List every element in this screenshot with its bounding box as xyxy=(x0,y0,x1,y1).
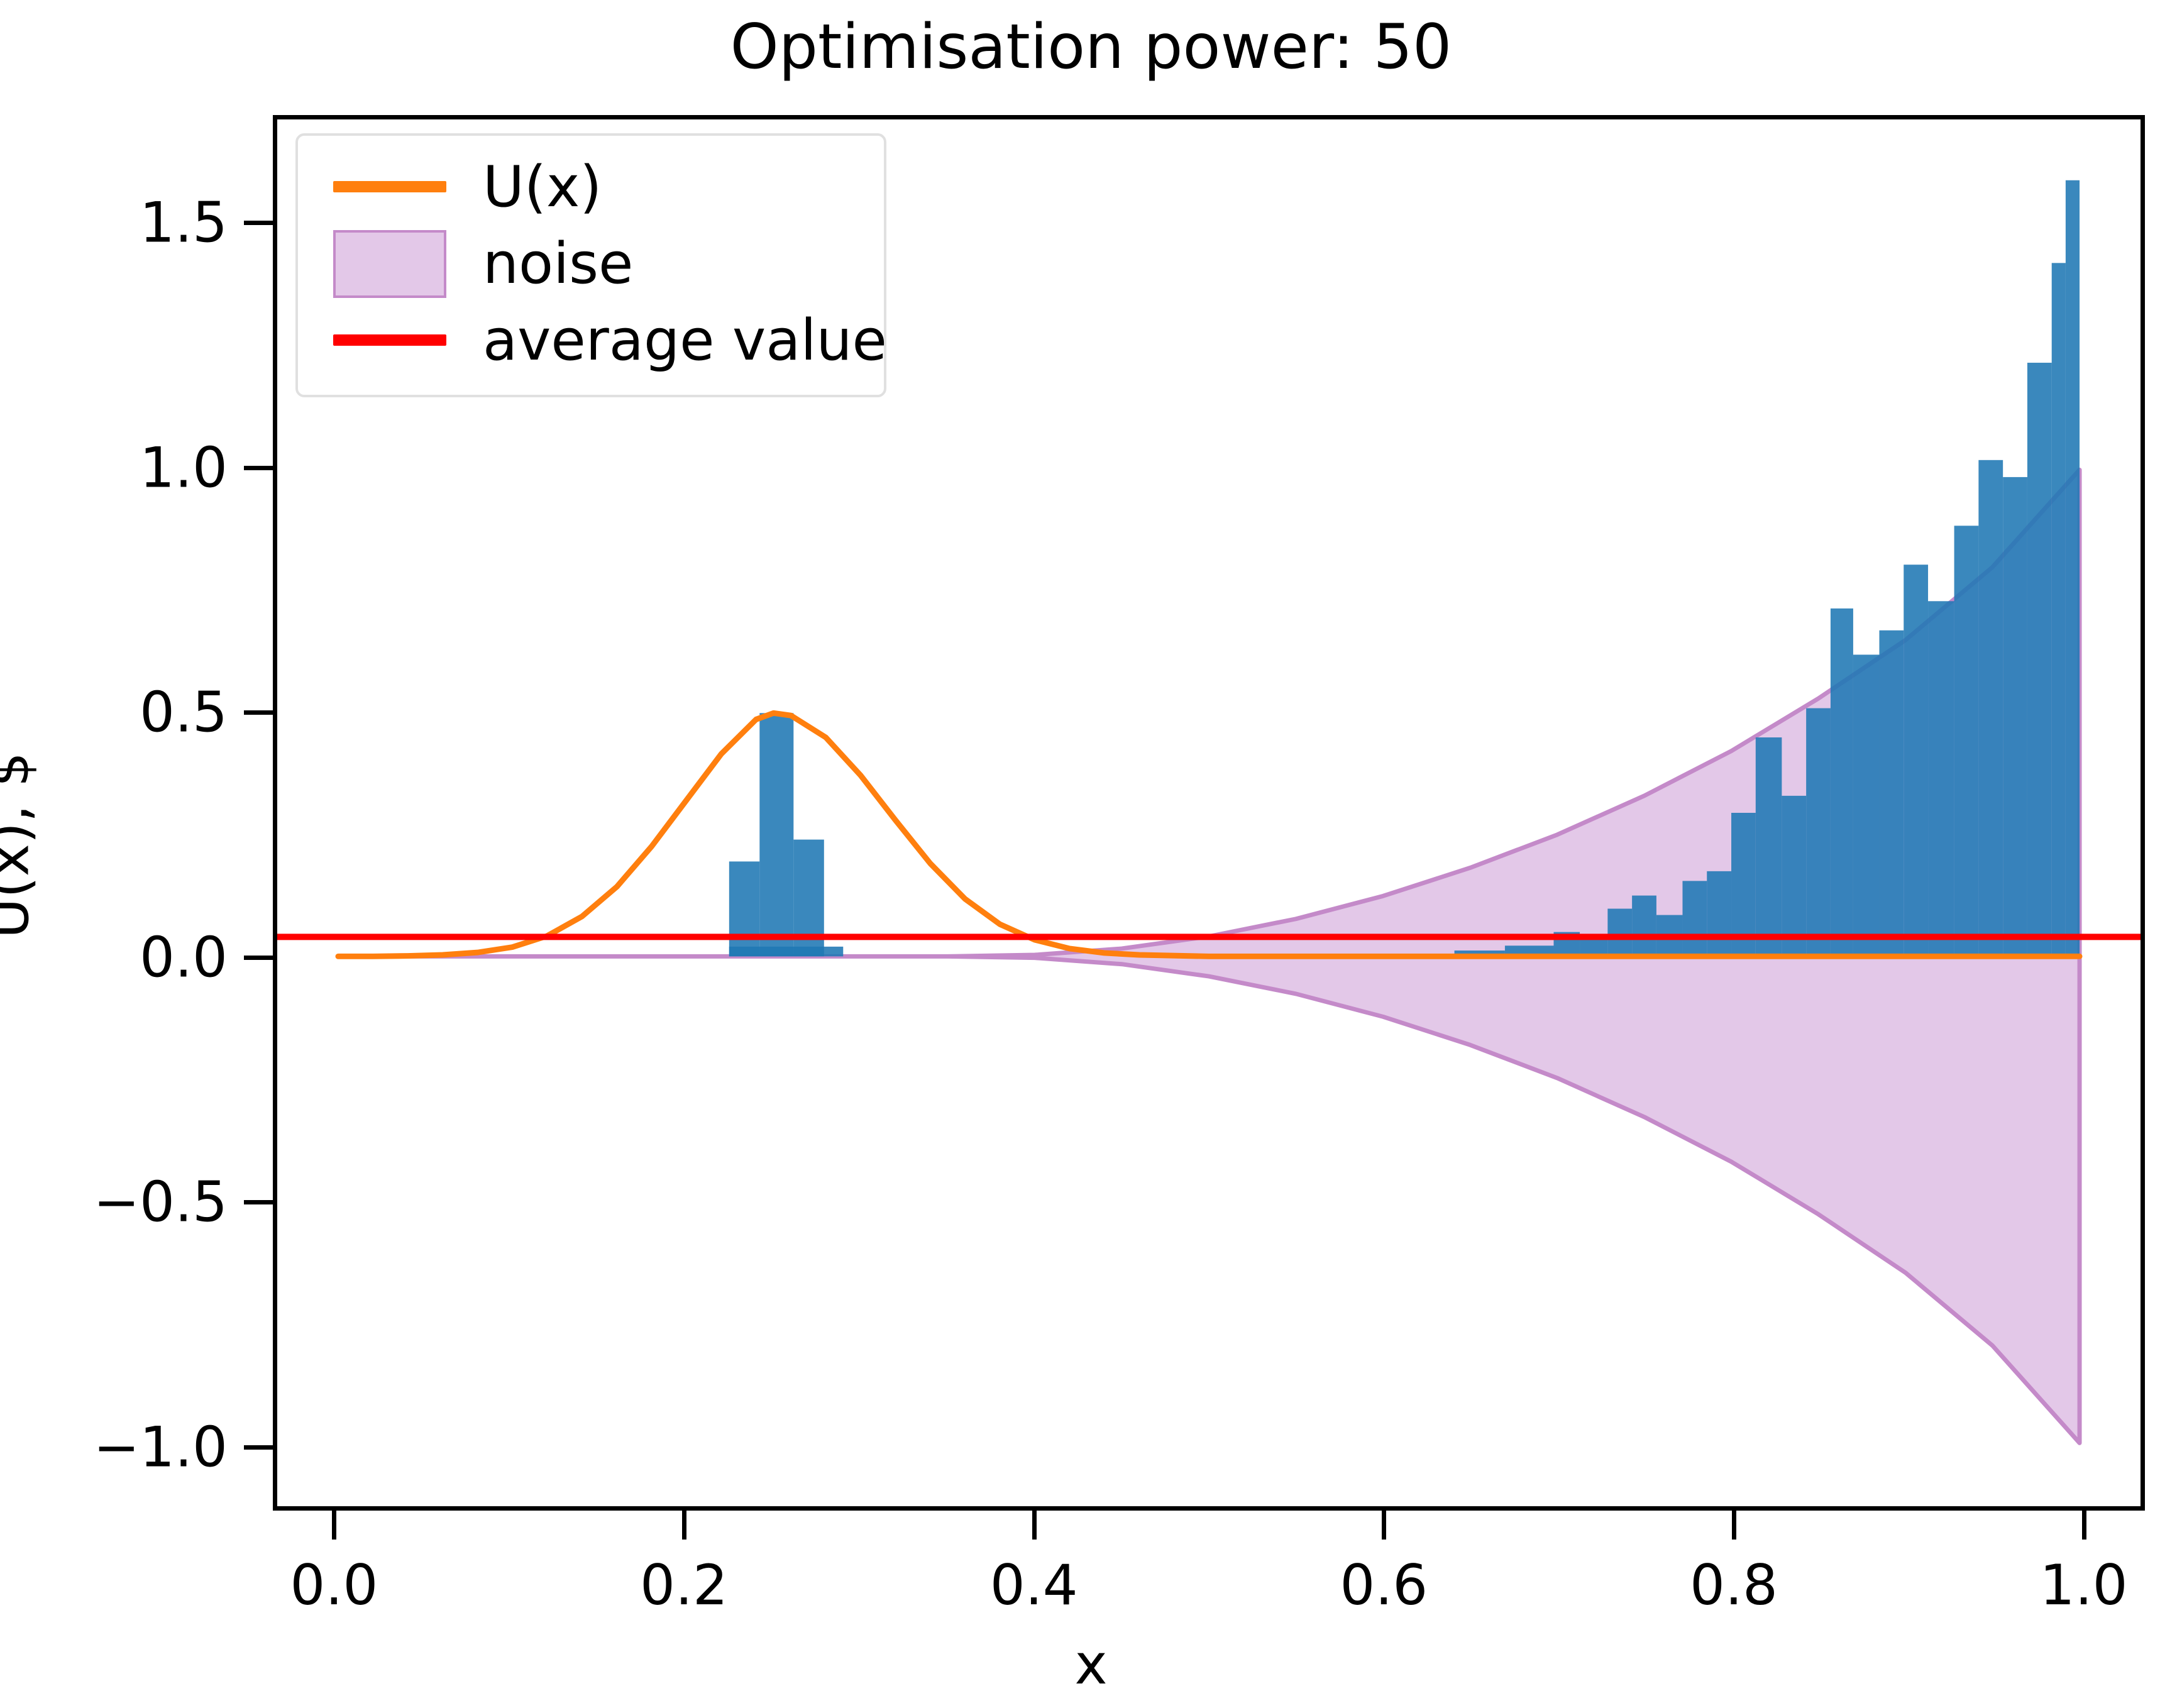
legend: U(x)noiseaverage value xyxy=(295,133,886,397)
sample-bars xyxy=(729,180,2080,957)
page-title: Optimisation power: 50 xyxy=(0,11,2182,83)
y-tick-mark xyxy=(244,710,273,715)
figure-canvas: Optimisation power: 50 1.51.00.50.0−0.5−… xyxy=(0,0,2182,1708)
x-tick-mark xyxy=(2082,1511,2086,1540)
y-tick-mark xyxy=(244,1200,273,1204)
x-tick-label: 1.0 xyxy=(2040,1553,2128,1617)
x-tick-label: 0.6 xyxy=(1340,1553,1428,1617)
x-tick-label: 0.2 xyxy=(640,1553,728,1617)
y-tick-mark xyxy=(244,466,273,470)
legend-patch-swatch xyxy=(333,230,446,298)
legend-item[interactable]: U(x) xyxy=(298,150,884,225)
y-tick-mark xyxy=(244,221,273,225)
x-tick-mark xyxy=(1382,1511,1386,1540)
legend-label: U(x) xyxy=(483,150,602,225)
legend-line-swatch xyxy=(333,181,446,192)
x-tick-mark xyxy=(1732,1511,1736,1540)
y-tick-label: 1.5 xyxy=(0,190,228,255)
legend-item[interactable]: average value xyxy=(298,303,884,378)
x-tick-label: 0.8 xyxy=(1690,1553,1778,1617)
x-tick-label: 0.4 xyxy=(990,1553,1078,1617)
x-tick-mark xyxy=(332,1511,336,1540)
legend-label: noise xyxy=(483,226,633,302)
y-tick-label: −1.0 xyxy=(0,1414,228,1479)
legend-item[interactable]: noise xyxy=(298,226,884,302)
x-tick-label: 0.0 xyxy=(290,1553,378,1617)
x-tick-mark xyxy=(682,1511,686,1540)
x-axis-label: x xyxy=(0,1632,2182,1697)
y-tick-mark xyxy=(244,956,273,960)
legend-label: average value xyxy=(483,303,887,378)
y-tick-mark xyxy=(244,1445,273,1450)
legend-line-swatch xyxy=(333,334,446,346)
y-axis-label: U(x), $ xyxy=(0,468,41,1223)
x-tick-mark xyxy=(1032,1511,1037,1540)
